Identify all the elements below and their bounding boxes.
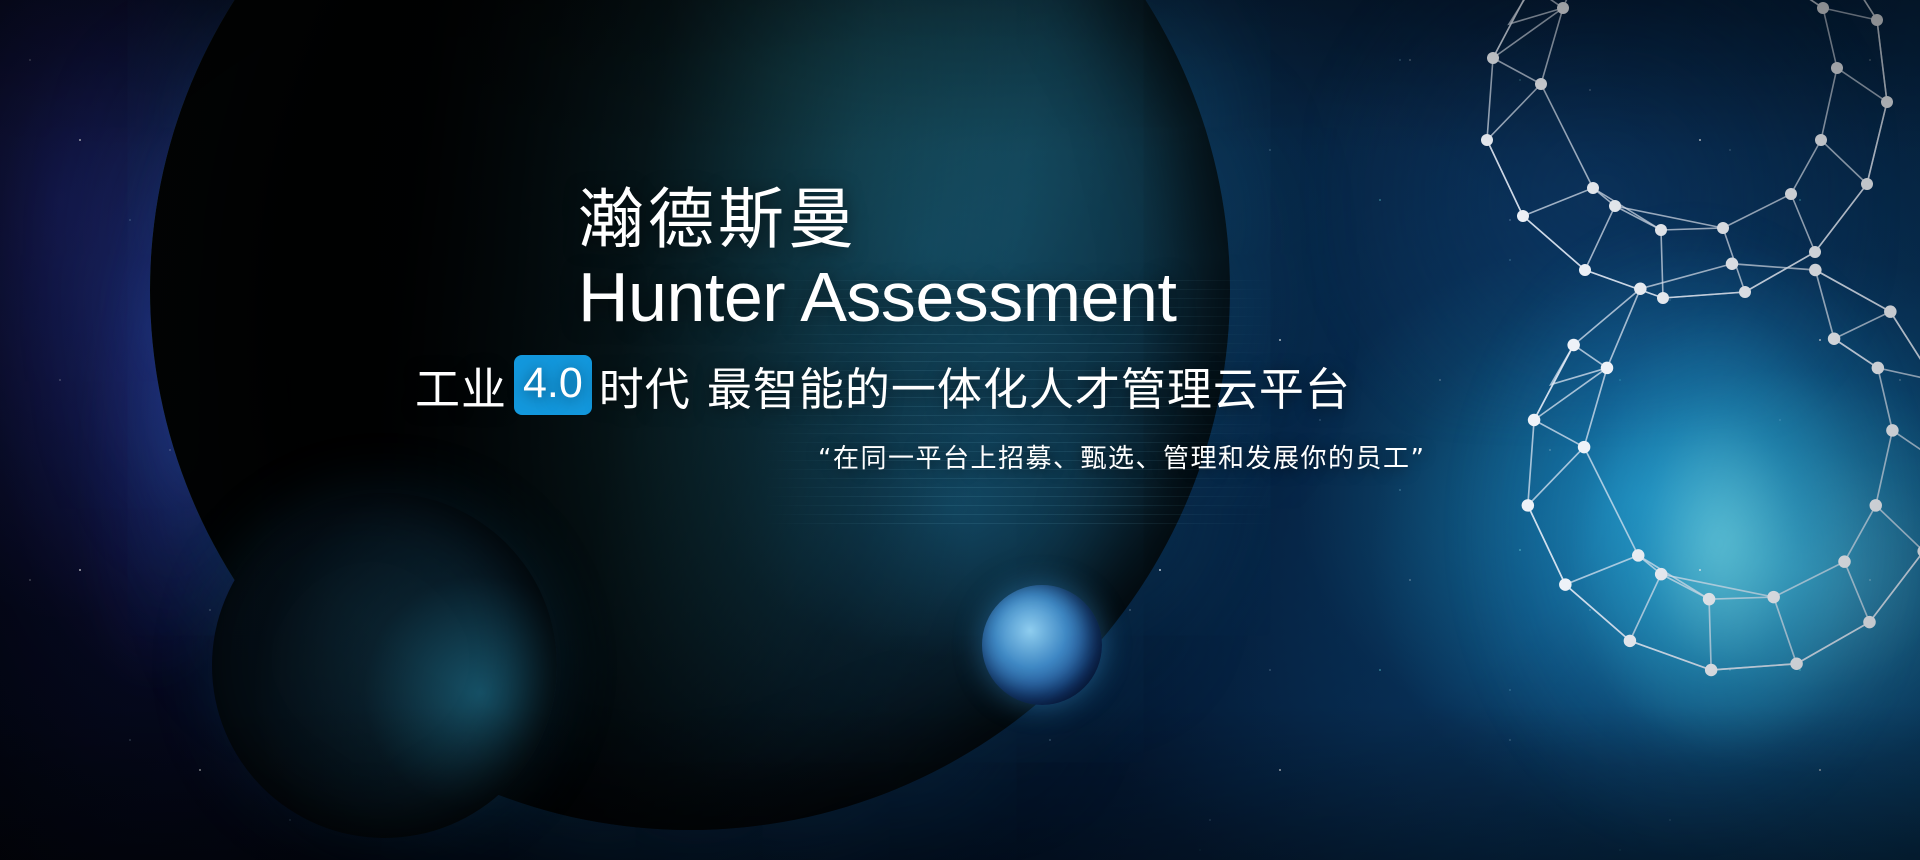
brand-title-english: Hunter Assessment: [578, 261, 1176, 335]
hero-subtitle-quote: “在同一平台上招募、甄选、管理和发展你的员工”: [818, 438, 1425, 475]
tagline-rest: 最智能的一体化人才管理云平台: [707, 353, 1351, 418]
brand-title-chinese: 瀚德斯曼: [578, 186, 858, 253]
tagline: 工业 4.0 时代 最智能的一体化人才管理云平台: [415, 353, 1351, 418]
hero-copy-block: 瀚德斯曼 Hunter Assessment 工业 4.0 时代 最智能的一体化…: [0, 0, 1920, 860]
hero-banner: 瀚德斯曼 Hunter Assessment 工业 4.0 时代 最智能的一体化…: [0, 0, 1920, 860]
tagline-before-badge: 工业: [415, 353, 507, 418]
tagline-after-badge: 时代: [599, 353, 691, 418]
industry-version-badge: 4.0: [514, 355, 592, 415]
